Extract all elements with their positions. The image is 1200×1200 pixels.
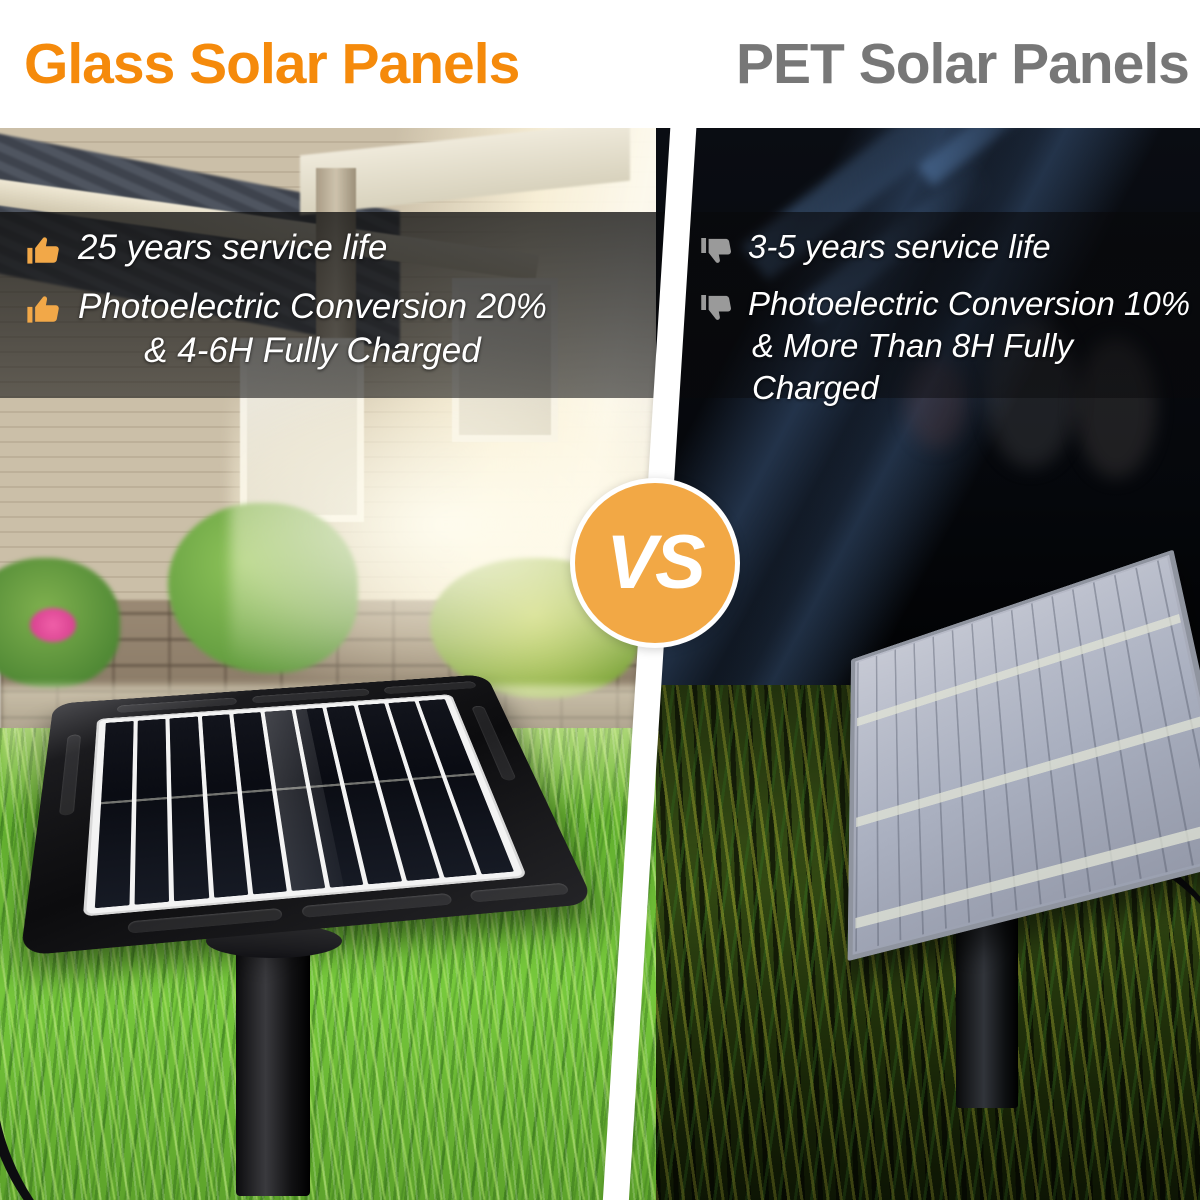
ground-stake [236,934,310,1196]
feature-item: Photoelectric Conversion 10% & More Than… [698,283,1198,409]
solar-cell [95,721,134,908]
right-feature-list: 3-5 years service life Photoelectric Con… [698,226,1198,419]
feature-text: 25 years service life [78,226,387,270]
comparison-infographic: Glass Solar Panels PET Solar Panels [0,0,1200,1200]
page-title-right: PET Solar Panels [736,30,1189,98]
feature-text: Photoelectric Conversion 10% & More Than… [748,283,1198,409]
right-comparison-panel: 3-5 years service life Photoelectric Con… [656,128,1200,1200]
housing-groove [301,893,453,918]
pet-solar-panel-product [824,484,1200,914]
panel-glass-face [83,694,527,916]
thumbs-down-icon [698,289,736,330]
thumbs-up-icon [24,291,64,334]
busbar [855,820,1200,928]
solar-cell-grid [95,699,514,908]
feature-text-line1: Photoelectric Conversion 20% [78,287,547,326]
feature-item: Photoelectric Conversion 20% & 4-6H Full… [24,285,644,373]
feature-text: 3-5 years service life [748,226,1051,268]
housing-groove [128,908,283,934]
feature-text: Photoelectric Conversion 20% & 4-6H Full… [78,285,547,373]
housing-groove [383,681,477,694]
feature-text-line2: & More Than 8H Fully Charged [748,325,1198,409]
panel-housing [20,674,594,956]
feature-text-line2: & 4-6H Fully Charged [78,329,547,373]
busbar [856,716,1200,827]
thumbs-up-icon [24,232,64,275]
panel-face [848,550,1200,962]
housing-groove [59,734,81,816]
busbar [857,614,1181,726]
solar-cell-grid [855,557,1200,951]
left-feature-list: 25 years service life Photoelectric Conv… [24,226,644,383]
solar-cell [135,719,170,905]
feature-item: 3-5 years service life [698,226,1198,273]
thumbs-down-icon [698,232,736,273]
feature-item: 25 years service life [24,226,644,275]
header-bar: Glass Solar Panels PET Solar Panels [0,0,1200,128]
page-title-left: Glass Solar Panels [24,30,519,98]
vs-badge-text: VS [606,525,703,601]
left-comparison-panel: 25 years service life Photoelectric Conv… [0,128,676,1200]
vs-badge: VS [570,478,740,648]
glass-solar-panel-product [30,520,590,940]
housing-groove [469,883,570,903]
feature-text-line1: Photoelectric Conversion 10% [748,285,1190,322]
